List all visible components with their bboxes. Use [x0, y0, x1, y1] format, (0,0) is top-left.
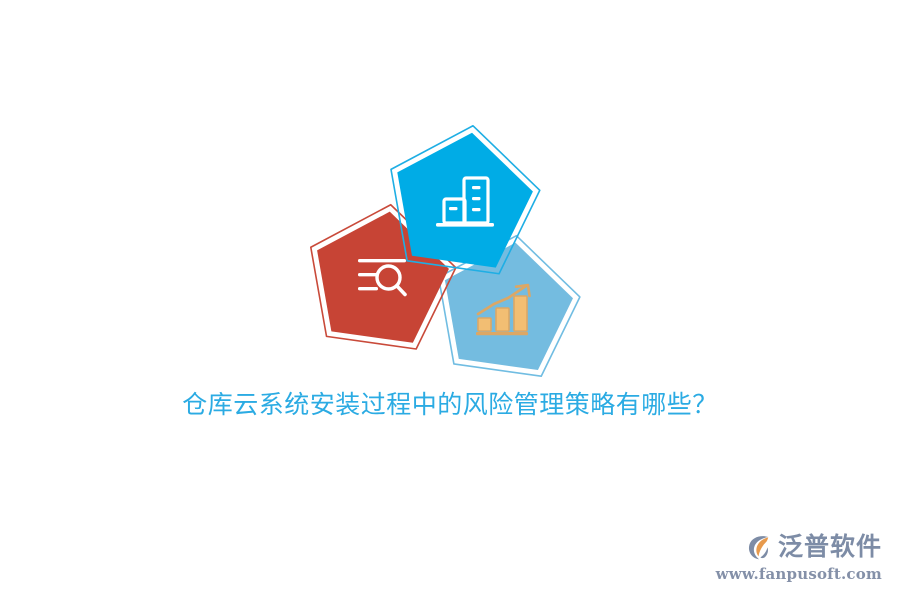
- watermark-brand-name: 泛普软件: [778, 532, 882, 562]
- pentagon-cluster-graphic: [0, 0, 900, 600]
- page-title: 仓库云系统安装过程中的风险管理策略有哪些？: [0, 388, 900, 422]
- watermark-url: www.fanpusoft.com: [712, 565, 882, 583]
- page-canvas: 仓库云系统安装过程中的风险管理策略有哪些？ 泛普软件 www.fanpusoft…: [0, 0, 900, 600]
- page-title-text: 仓库云系统安装过程中的风险管理策略有哪些？: [182, 388, 718, 422]
- watermark-logo: 泛普软件 www.fanpusoft.com: [712, 530, 882, 586]
- watermark-brand-row: 泛普软件: [712, 530, 882, 564]
- fanpu-logo-icon: [745, 532, 775, 562]
